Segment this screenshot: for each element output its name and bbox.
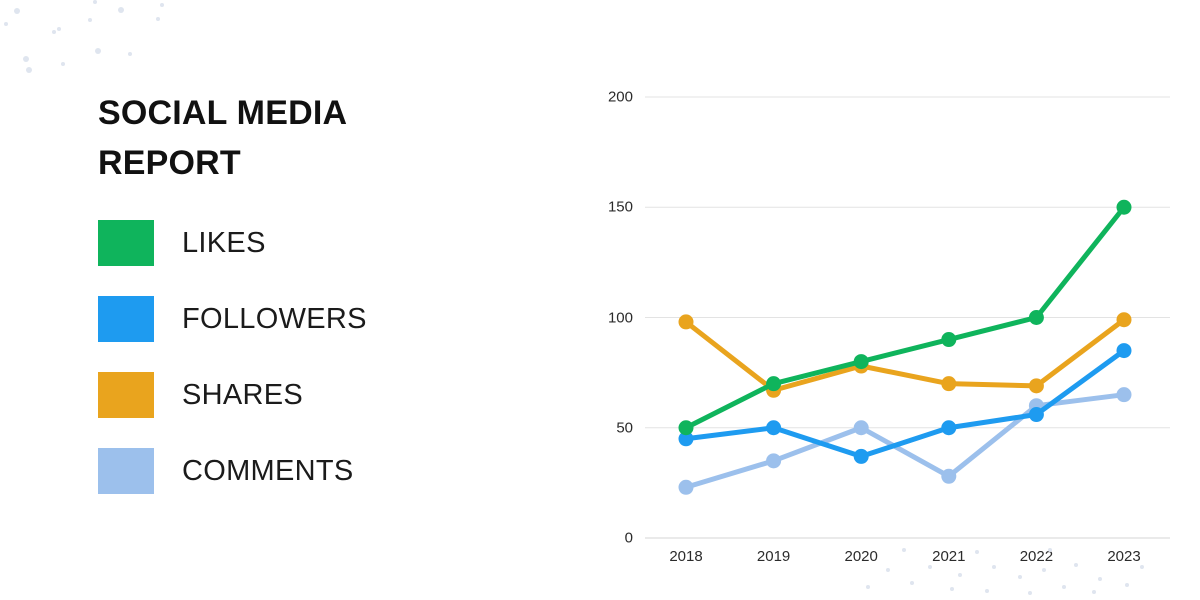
data-point[interactable] <box>854 354 869 369</box>
data-point[interactable] <box>941 469 956 484</box>
data-point[interactable] <box>941 376 956 391</box>
chart-gridlines <box>645 97 1170 538</box>
data-point[interactable] <box>854 449 869 464</box>
report-canvas: SOCIAL MEDIA REPORT LIKESFOLLOWERSSHARES… <box>0 0 1200 600</box>
y-axis-tick-label: 200 <box>573 89 633 106</box>
data-point[interactable] <box>1117 343 1132 358</box>
data-point[interactable] <box>941 332 956 347</box>
data-point[interactable] <box>766 376 781 391</box>
series-line <box>686 320 1124 391</box>
x-axis-tick-label: 2023 <box>1089 548 1159 565</box>
data-point[interactable] <box>766 420 781 435</box>
data-point[interactable] <box>679 420 694 435</box>
data-point[interactable] <box>941 420 956 435</box>
x-axis-tick-label: 2020 <box>826 548 896 565</box>
data-point[interactable] <box>1117 387 1132 402</box>
y-axis-tick-label: 150 <box>573 199 633 216</box>
data-point[interactable] <box>679 314 694 329</box>
x-axis-tick-label: 2018 <box>651 548 721 565</box>
y-axis-tick-label: 50 <box>573 419 633 436</box>
x-axis-tick-label: 2021 <box>914 548 984 565</box>
data-point[interactable] <box>1117 312 1132 327</box>
data-point[interactable] <box>679 480 694 495</box>
x-axis-tick-label: 2019 <box>739 548 809 565</box>
data-point[interactable] <box>854 420 869 435</box>
line-chart: 050100150200201820192020202120222023 <box>0 0 1200 600</box>
series-shares <box>679 312 1132 398</box>
x-axis-tick-label: 2022 <box>1001 548 1071 565</box>
y-axis-tick-label: 100 <box>573 309 633 326</box>
data-point[interactable] <box>1117 200 1132 215</box>
data-point[interactable] <box>1029 378 1044 393</box>
y-axis-tick-label: 0 <box>573 530 633 547</box>
data-point[interactable] <box>1029 310 1044 325</box>
data-point[interactable] <box>1029 407 1044 422</box>
data-point[interactable] <box>766 453 781 468</box>
